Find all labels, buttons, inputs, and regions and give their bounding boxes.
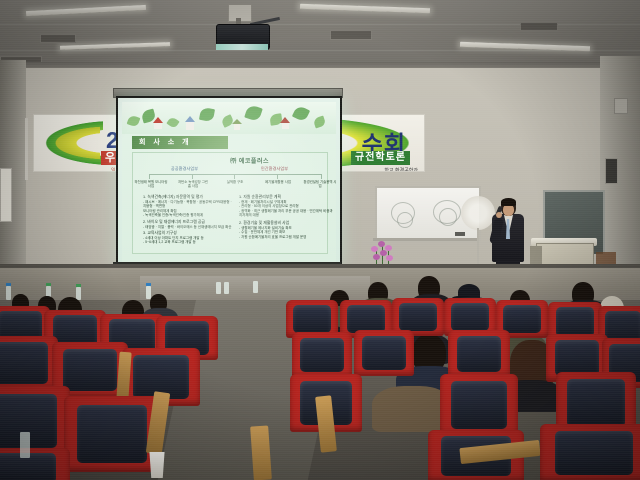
seat-cushion bbox=[457, 336, 502, 372]
org-connector bbox=[149, 174, 150, 179]
org-box: 실적환 구조 bbox=[218, 180, 252, 184]
whiteboard-drawing bbox=[397, 212, 413, 228]
slide-content-area: ㈜ 에코플러스 공공환경사업부 민간환경사업부 하천생태 복원 모니터링 사업 … bbox=[132, 152, 328, 254]
bottle-cap bbox=[76, 284, 81, 287]
seat[interactable] bbox=[0, 448, 70, 480]
ceiling-vent bbox=[40, 34, 76, 43]
org-box: 저탄소 녹색성장 그린 홈 사업 bbox=[176, 180, 210, 189]
water-bottle bbox=[216, 282, 221, 294]
leaf-icon bbox=[127, 114, 141, 127]
leaf-icon bbox=[292, 105, 310, 123]
whiteboard-marker bbox=[455, 232, 465, 236]
org-label-private: 민간환경사업부 bbox=[261, 166, 288, 172]
water-bottle bbox=[20, 432, 30, 458]
banner-swoosh-yellow bbox=[44, 123, 100, 163]
org-box: 폐기물재활용 사업 bbox=[261, 180, 295, 184]
orchid-bloom bbox=[380, 250, 387, 256]
seat[interactable] bbox=[540, 424, 640, 480]
bullet-line: - 자원 순환폐기물처리 효율 프로그램 개발 운영 bbox=[239, 235, 333, 240]
seat-cushion bbox=[362, 336, 405, 371]
round-wall-fixture bbox=[461, 196, 495, 230]
presentation-slide: 회 사 소 개 ㈜ 에코플러스 공공환경사업부 민간환경사업부 하천생태 복원 … bbox=[122, 102, 336, 262]
seat-cushion bbox=[503, 305, 540, 334]
seat-cushion bbox=[63, 349, 118, 392]
seat-cushion bbox=[293, 305, 330, 334]
slide-company-name: ㈜ 에코플러스 bbox=[230, 156, 269, 165]
presenter-hand bbox=[496, 212, 502, 218]
banner-subtitle: 학교 환경공학과 bbox=[384, 167, 418, 172]
house-roof-icon bbox=[185, 116, 195, 122]
leaf-icon bbox=[199, 107, 215, 122]
bullet-line: - 태양광 · 지열 · 풍력 · 바이오매스 등 신재생에너지 보급 확산 bbox=[143, 225, 235, 230]
leaf-icon bbox=[244, 104, 263, 122]
seat-cushion bbox=[451, 381, 507, 428]
org-label-public: 공공환경사업부 bbox=[171, 166, 198, 172]
seat-cushion bbox=[300, 338, 343, 373]
house-roof-icon bbox=[232, 119, 242, 124]
seat-cushion bbox=[451, 303, 488, 332]
seat-cushion bbox=[556, 307, 595, 337]
seat[interactable] bbox=[440, 374, 518, 436]
orchid-bloom bbox=[386, 255, 393, 261]
orchid-bloom bbox=[371, 246, 378, 252]
wall-speaker bbox=[605, 158, 618, 184]
seat-cushion bbox=[77, 405, 146, 463]
seat[interactable] bbox=[64, 396, 160, 472]
seat[interactable] bbox=[0, 336, 58, 390]
house-icon bbox=[282, 122, 289, 129]
ceiling-light bbox=[300, 4, 430, 14]
org-box: 하천생태 복원 모니터링 사업 bbox=[134, 180, 168, 189]
orchid-bloom bbox=[373, 254, 380, 260]
house-roof-icon bbox=[280, 117, 290, 123]
ceiling-light bbox=[60, 42, 170, 50]
seat-cushion bbox=[567, 379, 625, 426]
org-connector bbox=[192, 174, 193, 179]
org-connector bbox=[321, 174, 322, 179]
slide-title: 회 사 소 개 bbox=[132, 136, 228, 149]
water-bottle bbox=[253, 281, 258, 293]
bullet-line: - 광역화 · 최근 생활폐기물 처리 부문 공공 대응 · 민간위탁 비중과 … bbox=[239, 209, 333, 218]
house-icon bbox=[186, 121, 194, 130]
seat[interactable] bbox=[0, 386, 70, 456]
projector-lens bbox=[216, 44, 268, 50]
whiteboard-drawing bbox=[439, 208, 457, 226]
ceiling-light bbox=[26, 5, 146, 16]
seat-cushion bbox=[399, 303, 436, 332]
bullet-line: - 녹색건축물 인증/녹색건축/인증 평가체계 bbox=[143, 213, 235, 218]
seat-cushion bbox=[0, 342, 48, 383]
wall-pole bbox=[25, 118, 28, 180]
seat[interactable] bbox=[354, 330, 414, 376]
bottle-cap bbox=[6, 283, 11, 286]
org-connector bbox=[234, 174, 235, 179]
seat-cushion bbox=[555, 431, 633, 475]
banner-green-badge: 규전학토론 bbox=[351, 151, 410, 165]
leaf-icon bbox=[166, 116, 179, 129]
slide-header-decoration bbox=[122, 102, 336, 134]
slide-bullets-left: 1. 녹색건축(에너지) 자문용역 및 평가 - 패시브 · 에너지 · 다기능… bbox=[143, 195, 235, 245]
slide-bullets-right: 1. 자원 순환관리부문 계획 - 현재 · 폐기물처리시설 구체계획 - 관리… bbox=[239, 195, 333, 239]
orchid-bloom bbox=[378, 241, 385, 247]
auditorium-photo: 200 우수취업 일시 2009. 수회 규전학토론 학교 환경공학과 bbox=[0, 0, 640, 480]
whiteboard-tray bbox=[373, 238, 479, 241]
org-connector bbox=[149, 174, 321, 175]
house-icon bbox=[154, 122, 162, 129]
house-roof-icon bbox=[153, 117, 163, 123]
bullet-line: - 5~6세대 1,2 교육 프로그램 개발 등 bbox=[143, 240, 235, 245]
ceiling-vent bbox=[330, 30, 372, 40]
org-connector bbox=[277, 174, 278, 179]
seat-cushion bbox=[555, 340, 600, 376]
house-icon bbox=[234, 123, 240, 130]
seat[interactable] bbox=[292, 332, 352, 378]
bottle-cap bbox=[46, 283, 51, 286]
bottle-cap bbox=[146, 283, 151, 286]
water-bottle bbox=[224, 282, 229, 294]
bullet-line: - 패시브 · 에너지 · 다기능형 · 복합형 · 공동주택 CPR대응형 ·… bbox=[143, 200, 235, 209]
org-box: 환경컨설팅 기술용역 사업 bbox=[303, 180, 336, 189]
presenter-hair bbox=[501, 198, 516, 206]
ceiling-vent bbox=[520, 22, 558, 31]
notice-board bbox=[0, 168, 12, 222]
seat[interactable] bbox=[448, 330, 510, 378]
leaf-icon bbox=[313, 116, 327, 129]
wall-speaker bbox=[614, 98, 628, 114]
projection-screen: 회 사 소 개 ㈜ 에코플러스 공공환경사업부 민간환경사업부 하천생태 복원 … bbox=[116, 96, 342, 268]
ceiling-grid-line bbox=[0, 50, 640, 51]
water-bottle bbox=[6, 286, 11, 300]
seat-armrest bbox=[250, 425, 272, 480]
